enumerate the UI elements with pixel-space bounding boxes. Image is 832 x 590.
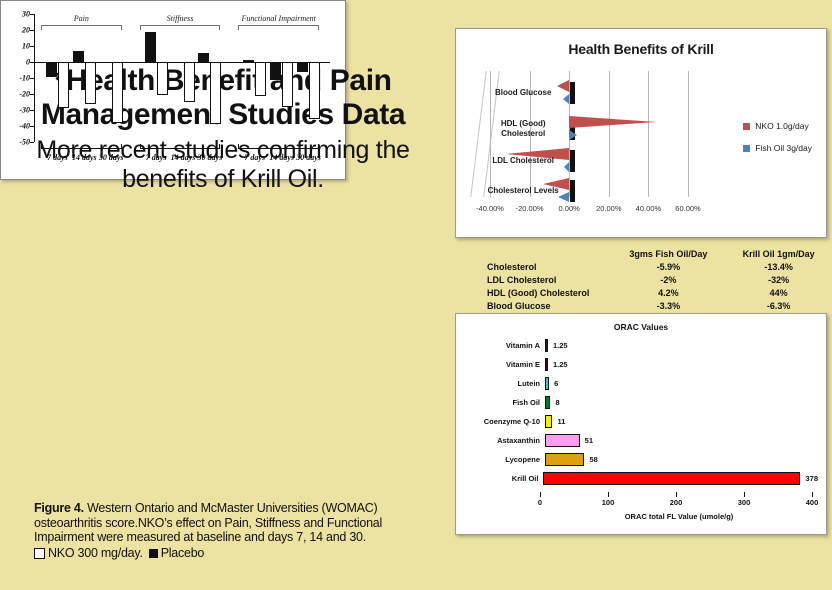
womac-x-tick-label: 14 days — [171, 153, 196, 162]
orac-bar-value: 8 — [555, 398, 559, 407]
orac-axis-tick — [812, 492, 813, 497]
womac-bar-nko — [85, 62, 96, 104]
orac-row: Lycopene58 — [464, 450, 818, 469]
womac-x-tick-label: 30 days — [99, 153, 124, 162]
table-row: Cholesterol-5.9%-13.4% — [487, 262, 832, 275]
krill-chart-plot-area: -40.00%-20.00%0.00%20.00%40.00%60.00%Blo… — [462, 71, 694, 213]
table-cell-label: Blood Glucose — [487, 301, 611, 314]
womac-bar-nko — [282, 62, 293, 107]
womac-x-tick-label: 7 days — [244, 153, 265, 162]
krill-comparison-table: 3gms Fish Oil/Day Krill Oil 1gm/Day Chol… — [487, 249, 832, 313]
womac-y-tick — [30, 126, 34, 127]
womac-y-tick-label: 20 — [22, 26, 30, 35]
womac-bar-placebo — [73, 51, 84, 62]
womac-y-tick-label: 30 — [22, 10, 30, 19]
orac-row: Fish Oil8 — [464, 393, 818, 412]
womac-bar-placebo — [297, 62, 308, 72]
womac-y-tick — [30, 78, 34, 79]
orac-bar — [545, 453, 584, 466]
krill-gridline — [648, 71, 649, 197]
orac-row-label: Fish Oil — [464, 398, 545, 407]
orac-row: Lutein6 — [464, 374, 818, 393]
orac-bar-value: 1.25 — [553, 341, 568, 350]
orac-row-label: Coenzyme Q-10 — [464, 417, 545, 426]
orac-axis-tick-label: 100 — [602, 498, 615, 507]
krill-axis-tick-label: -20.00% — [516, 204, 544, 213]
orac-row: Coenzyme Q-1011 — [464, 412, 818, 431]
womac-bar-placebo — [270, 62, 281, 80]
nko-swatch-icon — [34, 548, 45, 559]
table-cell-fish-oil: -2% — [611, 275, 725, 288]
legend-swatch-icon — [743, 123, 750, 130]
table-cell-krill-oil: 44% — [725, 288, 832, 301]
krill-category-label: Blood Glucose — [481, 88, 565, 98]
orac-bar-container: 378 — [543, 469, 818, 488]
health-benefits-chart-panel: Health Benefits of Krill -40.00%-20.00%0… — [455, 28, 827, 238]
table-cell-label: LDL Cholesterol — [487, 275, 611, 288]
orac-row-label: Lycopene — [464, 455, 545, 464]
orac-bar-container: 8 — [545, 393, 818, 412]
womac-group-title: Functional Impairment — [241, 14, 315, 23]
womac-y-tick — [30, 30, 34, 31]
krill-gridline — [688, 71, 689, 197]
table-row: LDL Cholesterol-2%-32% — [487, 275, 832, 288]
womac-y-tick — [30, 14, 34, 15]
womac-bar-nko — [184, 62, 195, 102]
orac-bar-container: 6 — [545, 374, 818, 393]
table-row: HDL (Good) Cholesterol4.2%44% — [487, 288, 832, 301]
legend-placebo-label: Placebo — [161, 546, 204, 561]
orac-axis-tick-label: 300 — [738, 498, 751, 507]
table-header-blank — [487, 249, 611, 262]
krill-gridline — [609, 71, 610, 197]
womac-group-bracket — [140, 25, 221, 30]
womac-bar-placebo — [46, 62, 57, 77]
orac-bar-value: 1.25 — [553, 360, 568, 369]
orac-row: Vitamin E1.25 — [464, 355, 818, 374]
orac-row: Astaxanthin51 — [464, 431, 818, 450]
womac-bar-placebo — [243, 60, 254, 62]
womac-x-tick-label: 14 days — [269, 153, 294, 162]
orac-bar-value: 58 — [589, 455, 597, 464]
legend-swatch-icon — [743, 145, 750, 152]
krill-legend-label: NKO 1.0g/day — [755, 121, 808, 131]
orac-axis-tick-label: 200 — [670, 498, 683, 507]
orac-x-axis-label: ORAC total FL Value (umole/g) — [540, 512, 818, 521]
orac-bar — [545, 434, 580, 447]
orac-bar — [545, 358, 548, 371]
womac-bar-placebo — [145, 32, 156, 62]
womac-x-tick-label: 14 days — [72, 153, 97, 162]
table-cell-fish-oil: 4.2% — [611, 288, 725, 301]
womac-x-tick-label: 7 days — [146, 153, 167, 162]
womac-bar-nko — [112, 62, 123, 123]
womac-x-tick-label: 30 days — [198, 153, 223, 162]
table-cell-label: HDL (Good) Cholesterol — [487, 288, 611, 301]
womac-y-tick — [30, 110, 34, 111]
womac-y-tick-label: -40 — [19, 122, 30, 131]
womac-y-tick-label: -30 — [19, 106, 30, 115]
womac-bar-nko — [157, 62, 168, 95]
figure-legend: NKO 300 mg/day. Placebo — [34, 546, 386, 561]
orac-bar — [545, 396, 550, 409]
krill-axis-tick-label: 20.00% — [596, 204, 621, 213]
orac-bar-container: 58 — [545, 450, 818, 469]
orac-row-label: Lutein — [464, 379, 545, 388]
womac-y-tick-label: 10 — [22, 42, 30, 51]
womac-group-bracket — [238, 25, 319, 30]
womac-bar-nko — [58, 62, 69, 108]
orac-bar-value: 51 — [585, 436, 593, 445]
table-header-fish-oil: 3gms Fish Oil/Day — [611, 249, 725, 262]
orac-chart-title: ORAC Values — [456, 322, 826, 332]
womac-group-title: Stiffness — [167, 14, 194, 23]
krill-legend-label: Fish Oil 3g/day — [755, 143, 812, 153]
table-cell-krill-oil: -13.4% — [725, 262, 832, 275]
krill-bar-nko — [569, 116, 656, 128]
figure-label: Figure 4. — [34, 501, 84, 515]
orac-bar-value: 11 — [557, 417, 565, 426]
orac-bar-value: 6 — [554, 379, 558, 388]
womac-y-tick-label: -50 — [19, 138, 30, 147]
womac-group-bracket-bottom — [140, 144, 221, 149]
krill-chart-legend: NKO 1.0g/dayFish Oil 3g/day — [743, 121, 812, 165]
orac-x-axis: ORAC total FL Value (umole/g) 0100200300… — [540, 492, 818, 526]
orac-bar-container: 1.25 — [545, 355, 818, 374]
orac-axis-tick-label: 0 — [538, 498, 542, 507]
womac-bar-nko — [210, 62, 221, 124]
legend-nko-label: NKO 300 mg/day. — [48, 546, 143, 561]
krill-axis-tick-label: 40.00% — [636, 204, 661, 213]
figure-caption: Figure 4. Western Ontario and McMaster U… — [34, 501, 386, 561]
krill-axis-column — [570, 82, 575, 104]
krill-category-label: LDL Cholesterol — [481, 156, 565, 166]
womac-plot-area: 3020100-10-20-30-40-50Pain7 days14 days3… — [34, 14, 330, 142]
krill-category-label: HDL (Good) Cholesterol — [481, 119, 565, 139]
orac-bar — [543, 472, 800, 485]
orac-row-label: Krill Oil — [464, 474, 543, 483]
orac-bar — [545, 377, 549, 390]
krill-bar-fish-oil — [569, 130, 577, 140]
womac-group-bracket — [41, 25, 122, 30]
womac-y-tick-label: -10 — [19, 74, 30, 83]
orac-axis-tick — [744, 492, 745, 497]
table-cell-fish-oil: -5.9% — [611, 262, 725, 275]
krill-axis-tick-label: 60.00% — [675, 204, 700, 213]
table-cell-fish-oil: -3.3% — [611, 301, 725, 314]
orac-bar-rows: Vitamin A1.25Vitamin E1.25Lutein6Fish Oi… — [464, 336, 818, 488]
krill-axis-column — [570, 150, 575, 172]
orac-row-label: Vitamin E — [464, 360, 545, 369]
womac-bar-nko — [309, 62, 320, 119]
womac-group-bracket-bottom — [238, 144, 319, 149]
orac-bar-container: 51 — [545, 431, 818, 450]
krill-legend-item: Fish Oil 3g/day — [743, 143, 812, 153]
womac-bar-nko — [255, 62, 266, 96]
orac-row-label: Astaxanthin — [464, 436, 545, 445]
womac-y-axis — [34, 14, 35, 142]
orac-bar — [545, 339, 548, 352]
womac-y-tick-label: -20 — [19, 90, 30, 99]
orac-axis-tick — [540, 492, 541, 497]
table-cell-krill-oil: -32% — [725, 275, 832, 288]
orac-values-chart-panel: ORAC Values Vitamin A1.25Vitamin E1.25Lu… — [455, 313, 827, 535]
orac-bar-value: 378 — [805, 474, 818, 483]
womac-y-tick — [30, 62, 34, 63]
orac-axis-tick — [676, 492, 677, 497]
womac-x-tick-label: 7 days — [47, 153, 68, 162]
krill-chart-title: Health Benefits of Krill — [456, 41, 826, 57]
womac-y-tick — [30, 142, 34, 143]
orac-row: Vitamin A1.25 — [464, 336, 818, 355]
krill-category-label: Cholesterol Levels — [481, 186, 565, 196]
table-row: Blood Glucose-3.3%-6.3% — [487, 301, 832, 314]
table-header-krill-oil: Krill Oil 1gm/Day — [725, 249, 832, 262]
womac-x-tick-label: 30 days — [296, 153, 321, 162]
womac-group-title: Pain — [74, 14, 89, 23]
table-cell-label: Cholesterol — [487, 262, 611, 275]
orac-bar — [545, 415, 552, 428]
krill-axis-column — [570, 180, 575, 202]
womac-bar-placebo — [198, 53, 209, 62]
womac-y-tick — [30, 94, 34, 95]
krill-axis-tick-label: 0.00% — [559, 204, 580, 213]
orac-bar-container: 1.25 — [545, 336, 818, 355]
orac-row-label: Vitamin A — [464, 341, 545, 350]
orac-axis-tick — [608, 492, 609, 497]
placebo-swatch-icon — [149, 549, 158, 558]
table-cell-krill-oil: -6.3% — [725, 301, 832, 314]
orac-bar-container: 11 — [545, 412, 818, 431]
figure-caption-body: Western Ontario and McMaster Universitie… — [34, 501, 382, 544]
table-header-row: 3gms Fish Oil/Day Krill Oil 1gm/Day — [487, 249, 832, 262]
orac-row: Krill Oil378 — [464, 469, 818, 488]
krill-legend-item: NKO 1.0g/day — [743, 121, 812, 131]
krill-axis-tick-label: -40.00% — [476, 204, 504, 213]
womac-y-tick — [30, 46, 34, 47]
orac-axis-tick-label: 400 — [806, 498, 819, 507]
womac-group-bracket-bottom — [41, 144, 122, 149]
